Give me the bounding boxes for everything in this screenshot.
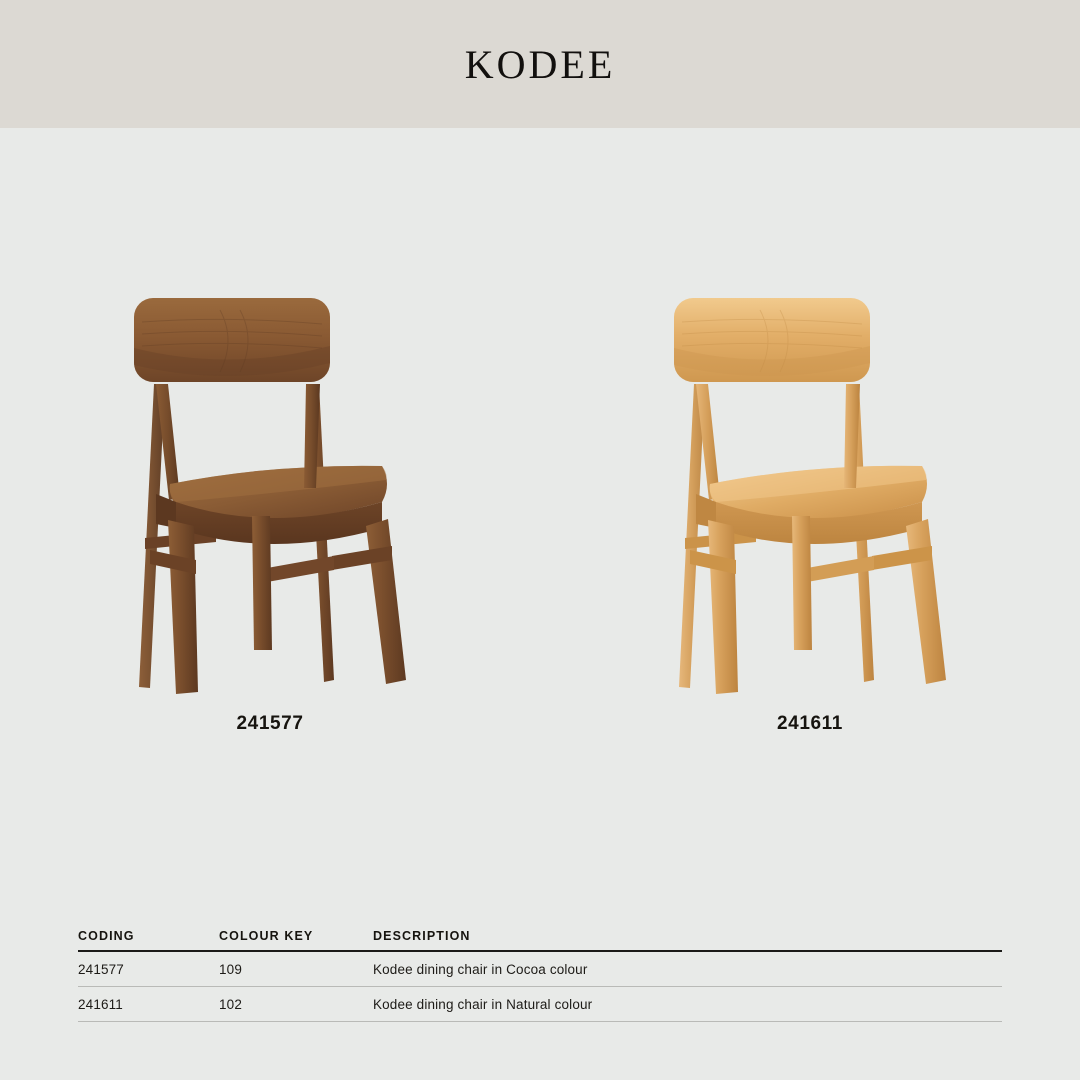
cell-description: Kodee dining chair in Cocoa colour bbox=[373, 962, 1002, 977]
table-body: 241577 109 Kodee dining chair in Cocoa c… bbox=[78, 952, 1002, 1022]
product-code-label: 241611 bbox=[540, 713, 1080, 735]
cell-colour-key: 102 bbox=[219, 997, 373, 1012]
column-header-colour-key: COLOUR KEY bbox=[219, 929, 373, 943]
product-card-241577[interactable]: 241577 bbox=[0, 128, 540, 908]
product-code-label: 241577 bbox=[0, 713, 540, 735]
chair-illustration-natural bbox=[660, 288, 960, 708]
table-row[interactable]: 241611 102 Kodee dining chair in Natural… bbox=[78, 987, 1002, 1021]
product-image-241577 bbox=[0, 288, 540, 708]
column-header-coding: CODING bbox=[78, 929, 219, 943]
table-row[interactable]: 241577 109 Kodee dining chair in Cocoa c… bbox=[78, 952, 1002, 986]
table-header-row: CODING COLOUR KEY DESCRIPTION bbox=[78, 922, 1002, 950]
product-image-241611 bbox=[540, 288, 1080, 708]
product-gallery: 241577 bbox=[0, 128, 1080, 908]
catalog-page: KODEE bbox=[0, 0, 1080, 1080]
cell-description: Kodee dining chair in Natural colour bbox=[373, 997, 1002, 1012]
brand-logo: KODEE bbox=[0, 0, 1080, 128]
table-bottom-rule bbox=[78, 1021, 1002, 1022]
cell-coding: 241611 bbox=[78, 997, 219, 1012]
spec-table: CODING COLOUR KEY DESCRIPTION 241577 109… bbox=[78, 922, 1002, 1022]
column-header-description: DESCRIPTION bbox=[373, 929, 1002, 943]
product-card-241611[interactable]: 241611 bbox=[540, 128, 1080, 908]
cell-coding: 241577 bbox=[78, 962, 219, 977]
cell-colour-key: 109 bbox=[219, 962, 373, 977]
chair-illustration-cocoa bbox=[120, 288, 420, 708]
